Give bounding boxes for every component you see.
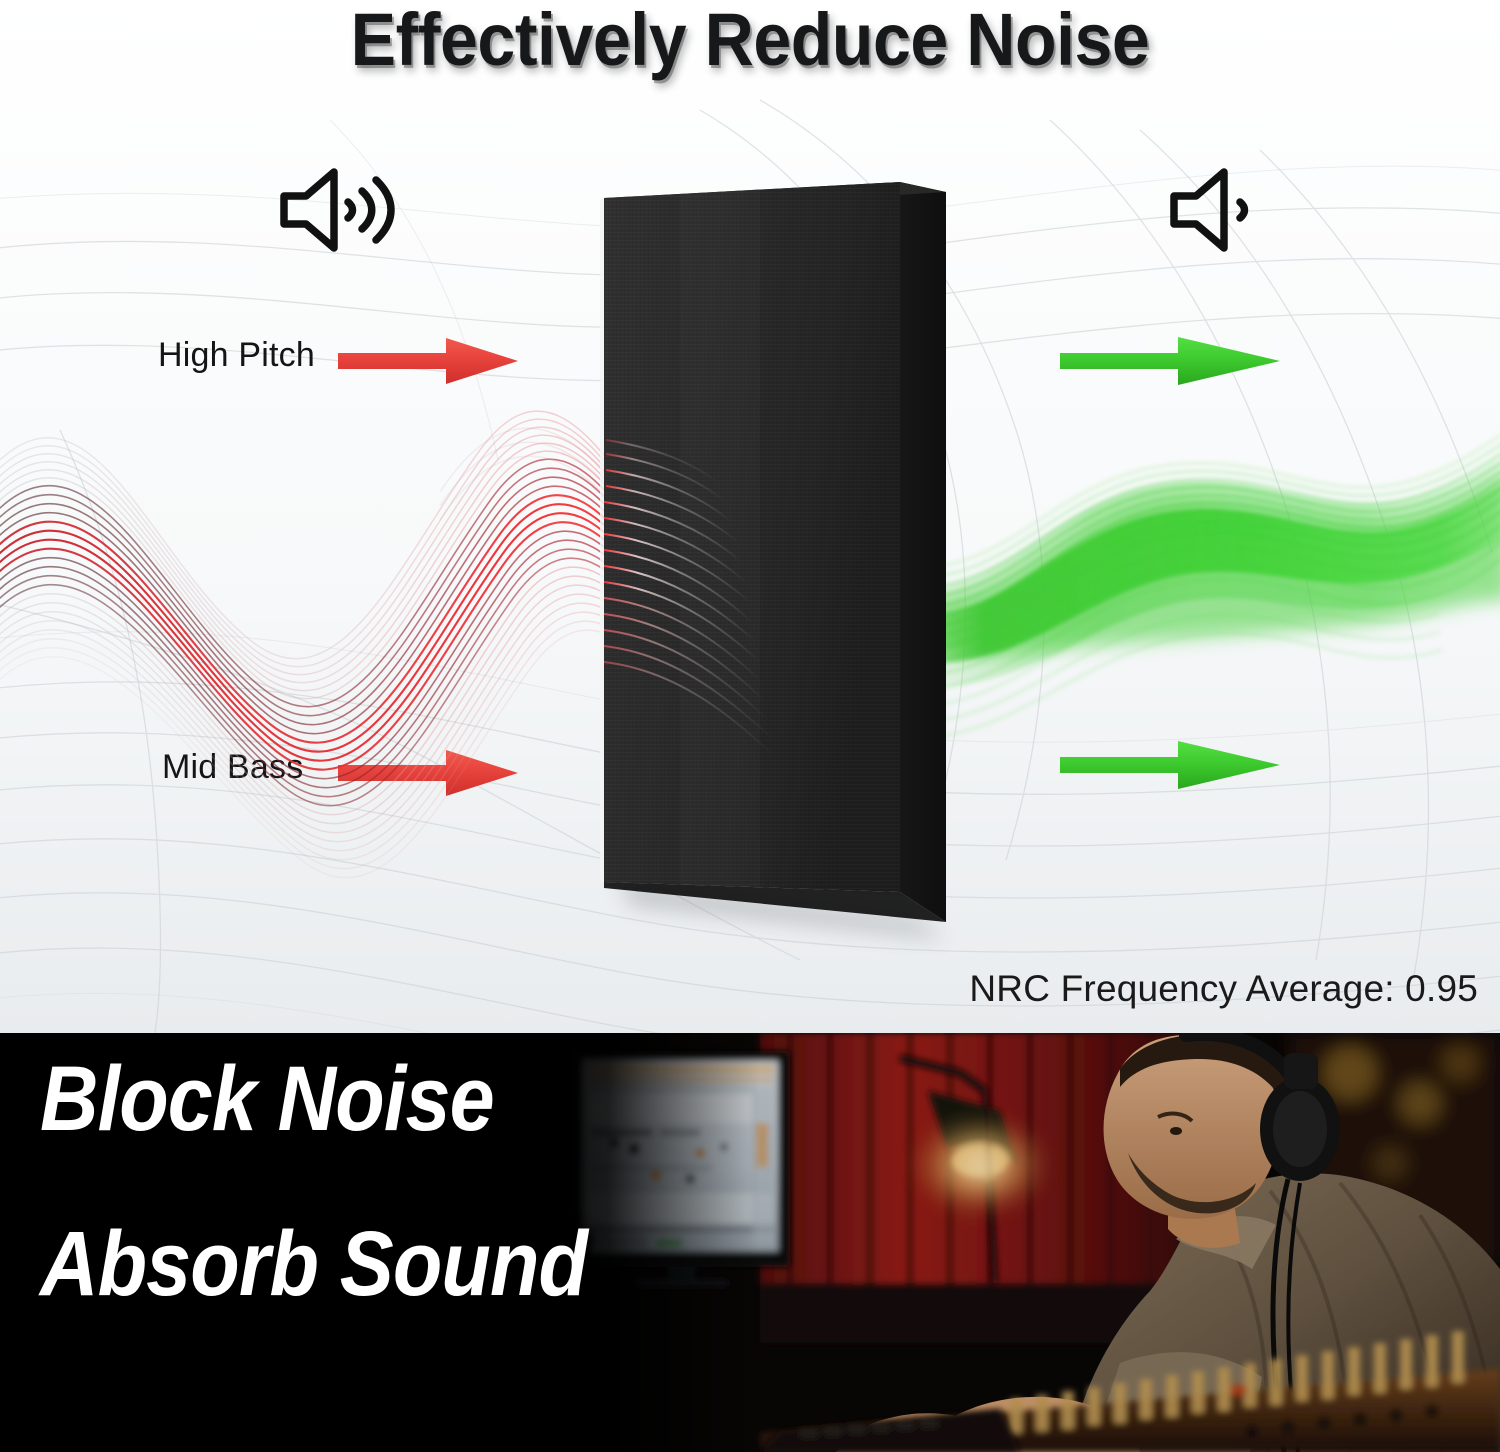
nrc-rating-caption: NRC Frequency Average: 0.95	[969, 968, 1478, 1010]
noise-reduction-diagram: Effectively Reduce Noise	[0, 0, 1500, 1033]
headline-absorb-sound: Absorb Sound	[40, 1219, 587, 1309]
headline-block-noise: Block Noise	[40, 1054, 494, 1144]
absorbed-wave-tails	[0, 0, 1500, 1033]
